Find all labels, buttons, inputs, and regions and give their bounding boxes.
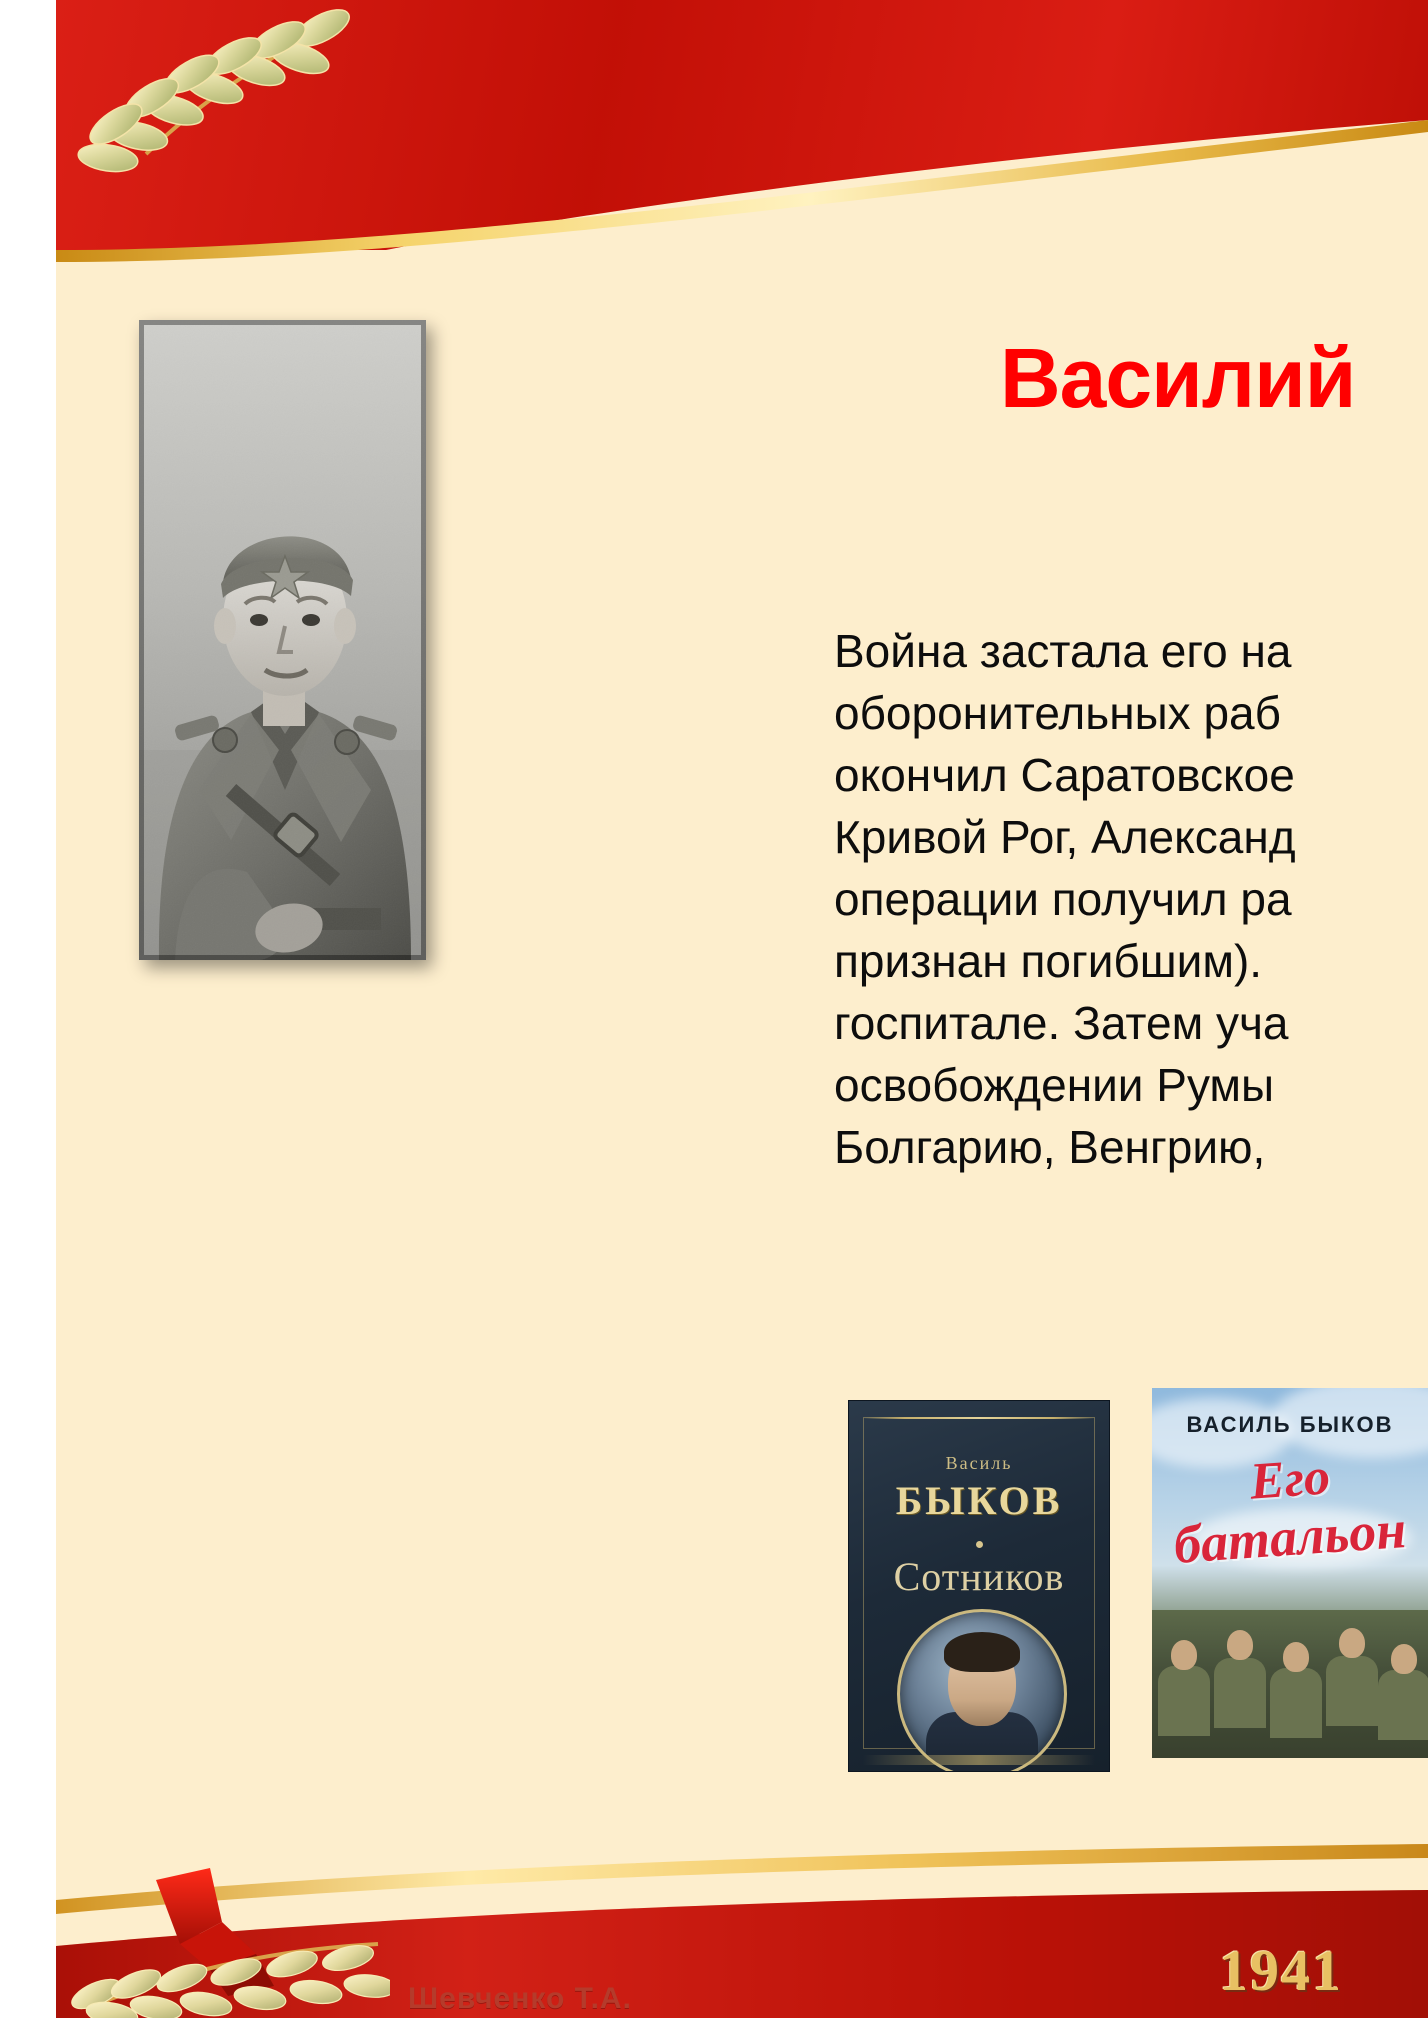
footer-author: Шевченко Т.А. [408, 1982, 632, 2016]
slide-root: Василий Война застала его на оборонитель… [0, 0, 1428, 2018]
body-line: Война застала его на [834, 620, 1428, 682]
portrait-hair [944, 1632, 1020, 1672]
book-cover-ego-batalon: ВАСИЛЬ БЫКОВ Его батальон [1152, 1388, 1428, 1758]
body-line: окончил Саратовское [834, 744, 1428, 806]
book-rule-top [863, 1417, 1095, 1419]
year-badge: 1941 [1219, 1937, 1343, 2004]
body-line: госпитале. Затем уча [834, 992, 1428, 1054]
book-author: ВАСИЛЬ БЫКОВ [1152, 1412, 1428, 1438]
body-line: Болгарию, Венгрию, [834, 1116, 1428, 1178]
soldier-photo-image [139, 320, 426, 960]
book-rule-bottom [863, 1755, 1095, 1765]
body-line: операции получил ра [834, 868, 1428, 930]
body-paragraph: Война застала его на оборонительных раб … [834, 620, 1428, 1178]
left-gutter [0, 0, 56, 2018]
soldiers-photo-band [1152, 1610, 1428, 1758]
soldier-photo [139, 320, 426, 960]
book-title: Сотников [849, 1553, 1109, 1600]
book-separator-dot [976, 1541, 983, 1548]
body-line: признан погибшим). [834, 930, 1428, 992]
book-author-small: Василь [849, 1453, 1109, 1474]
page-title: Василий [1000, 336, 1355, 420]
body-line: освобождении Румы [834, 1054, 1428, 1116]
body-line: оборонительных раб [834, 682, 1428, 744]
book-author-large: БЫКОВ [849, 1477, 1109, 1524]
book-portrait-medallion [897, 1609, 1067, 1772]
book-cover-sotnikov: Василь БЫКОВ Сотников [848, 1400, 1110, 1772]
body-line: Кривой Рог, Александ [834, 806, 1428, 868]
